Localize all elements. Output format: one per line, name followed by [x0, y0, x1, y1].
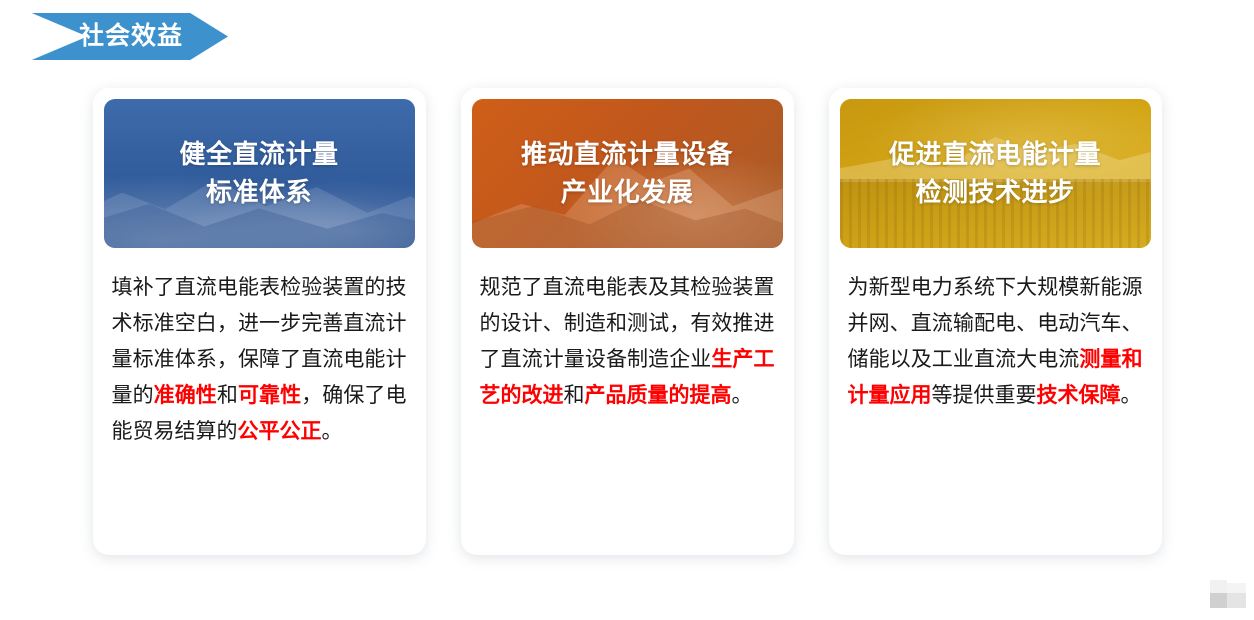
section-banner-label: 社会效益 [18, 13, 228, 60]
corner-mark-block-top-left [1210, 580, 1227, 593]
body-text: 和 [217, 384, 238, 407]
corner-mark-block-bottom-left [1210, 593, 1227, 608]
card-header-detection-technology: 促进直流电能计量 检测技术进步 [840, 99, 1151, 248]
section-banner: 社会效益 [18, 13, 228, 60]
card-body-standards-system: 填补了直流电能表检验装置的技术标准空白，进一步完善直流计量标准体系，保障了直流电… [104, 248, 415, 451]
highlighted-text: 可靠性 [238, 384, 301, 407]
benefit-card-detection-technology[interactable]: 促进直流电能计量 检测技术进步 为新型电力系统下大规模新能源并网、直流输配电、电… [829, 88, 1162, 555]
card-title-standards-system: 健全直流计量 标准体系 [179, 136, 338, 211]
highlighted-text: 技术保障 [1037, 384, 1121, 407]
card-header-industrialization: 推动直流计量设备 产业化发展 [472, 99, 783, 248]
body-text: 。 [732, 384, 753, 407]
benefit-card-standards-system[interactable]: 健全直流计量 标准体系 填补了直流电能表检验装置的技术标准空白，进一步完善直流计… [93, 88, 426, 555]
highlighted-text: 产品质量的提高 [585, 384, 732, 407]
highlighted-text: 公平公正 [238, 420, 322, 443]
body-text: 等提供重要 [932, 384, 1037, 407]
card-body-detection-technology: 为新型电力系统下大规模新能源并网、直流输配电、电动汽车、储能以及工业直流大电流测… [840, 248, 1151, 414]
body-text: 。 [322, 420, 343, 443]
card-header-standards-system: 健全直流计量 标准体系 [104, 99, 415, 248]
benefit-card-industrialization[interactable]: 推动直流计量设备 产业化发展 规范了直流电能表及其检验装置的设计、制造和测试，有… [461, 88, 794, 555]
benefit-cards-row: 健全直流计量 标准体系 填补了直流电能表检验装置的技术标准空白，进一步完善直流计… [0, 88, 1254, 555]
highlighted-text: 准确性 [154, 384, 217, 407]
body-text: 和 [564, 384, 585, 407]
card-title-detection-technology: 促进直流电能计量 检测技术进步 [889, 136, 1101, 211]
page-corner-watermark-icon [1210, 580, 1246, 608]
body-text: 。 [1121, 384, 1142, 407]
card-title-industrialization: 推动直流计量设备 产业化发展 [521, 136, 733, 211]
corner-mark-block-top-right [1227, 583, 1246, 593]
slide-root: 社会效益 健全直流计量 标准体系 填补了直流电能表检验装置的技术标准空白，进一步… [0, 0, 1254, 620]
card-body-industrialization: 规范了直流电能表及其检验装置的设计、制造和测试，有效推进了直流计量设备制造企业生… [472, 248, 783, 414]
corner-mark-block-bottom-right [1227, 593, 1246, 608]
